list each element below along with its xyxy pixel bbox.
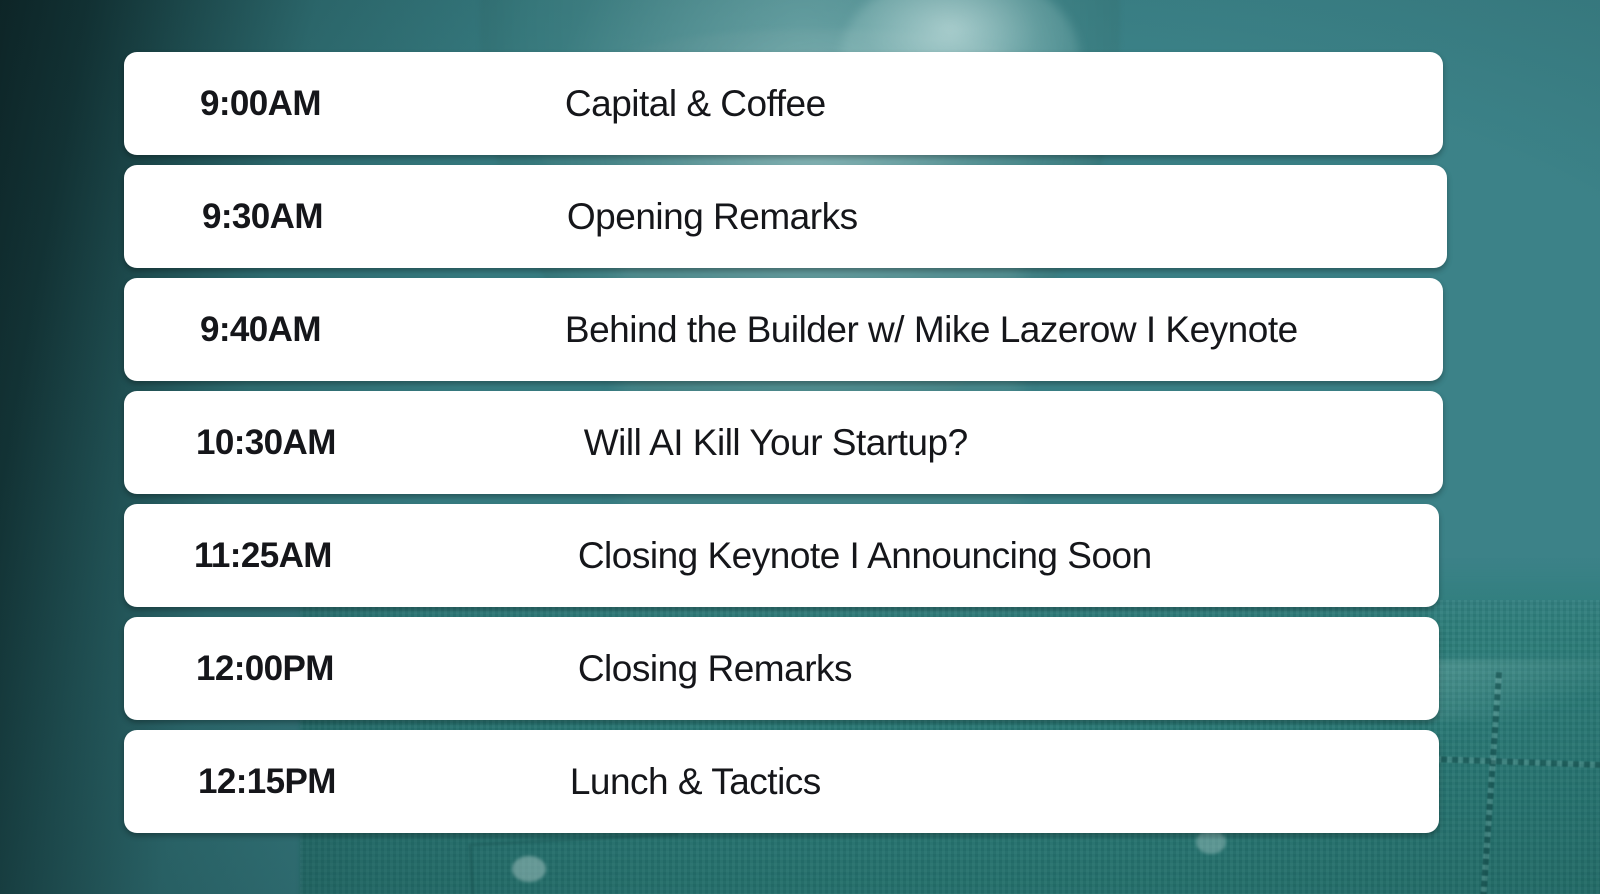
agenda-row-time: 10:30AM (196, 423, 336, 463)
agenda-row[interactable]: 11:25AMClosing Keynote I Announcing Soon (124, 504, 1439, 607)
agenda-row-title: Will AI Kill Your Startup? (584, 422, 1443, 464)
slide-canvas: 9:00AMCapital & Coffee9:30AMOpening Rema… (0, 0, 1600, 894)
agenda-row-title: Lunch & Tactics (570, 761, 1439, 803)
agenda-row-time: 9:40AM (200, 310, 321, 350)
agenda-row[interactable]: 12:15PMLunch & Tactics (124, 730, 1439, 833)
agenda-row[interactable]: 9:00AMCapital & Coffee (124, 52, 1443, 155)
agenda-row-time: 12:00PM (196, 649, 334, 689)
agenda-list: 9:00AMCapital & Coffee9:30AMOpening Rema… (124, 52, 1454, 843)
agenda-row-time: 9:00AM (200, 84, 321, 124)
agenda-row-time: 11:25AM (194, 536, 332, 576)
agenda-row[interactable]: 10:30AMWill AI Kill Your Startup? (124, 391, 1443, 494)
agenda-row-time: 9:30AM (202, 197, 323, 237)
agenda-row-title: Behind the Builder w/ Mike Lazerow I Key… (565, 309, 1443, 351)
agenda-row-title: Capital & Coffee (565, 83, 1443, 125)
agenda-row[interactable]: 12:00PMClosing Remarks (124, 617, 1439, 720)
agenda-row-time: 12:15PM (198, 762, 336, 802)
agenda-row-title: Closing Remarks (578, 648, 1439, 690)
agenda-row-title: Opening Remarks (567, 196, 1447, 238)
agenda-row-title: Closing Keynote I Announcing Soon (578, 535, 1439, 577)
agenda-row[interactable]: 9:30AMOpening Remarks (124, 165, 1447, 268)
agenda-row[interactable]: 9:40AMBehind the Builder w/ Mike Lazerow… (124, 278, 1443, 381)
